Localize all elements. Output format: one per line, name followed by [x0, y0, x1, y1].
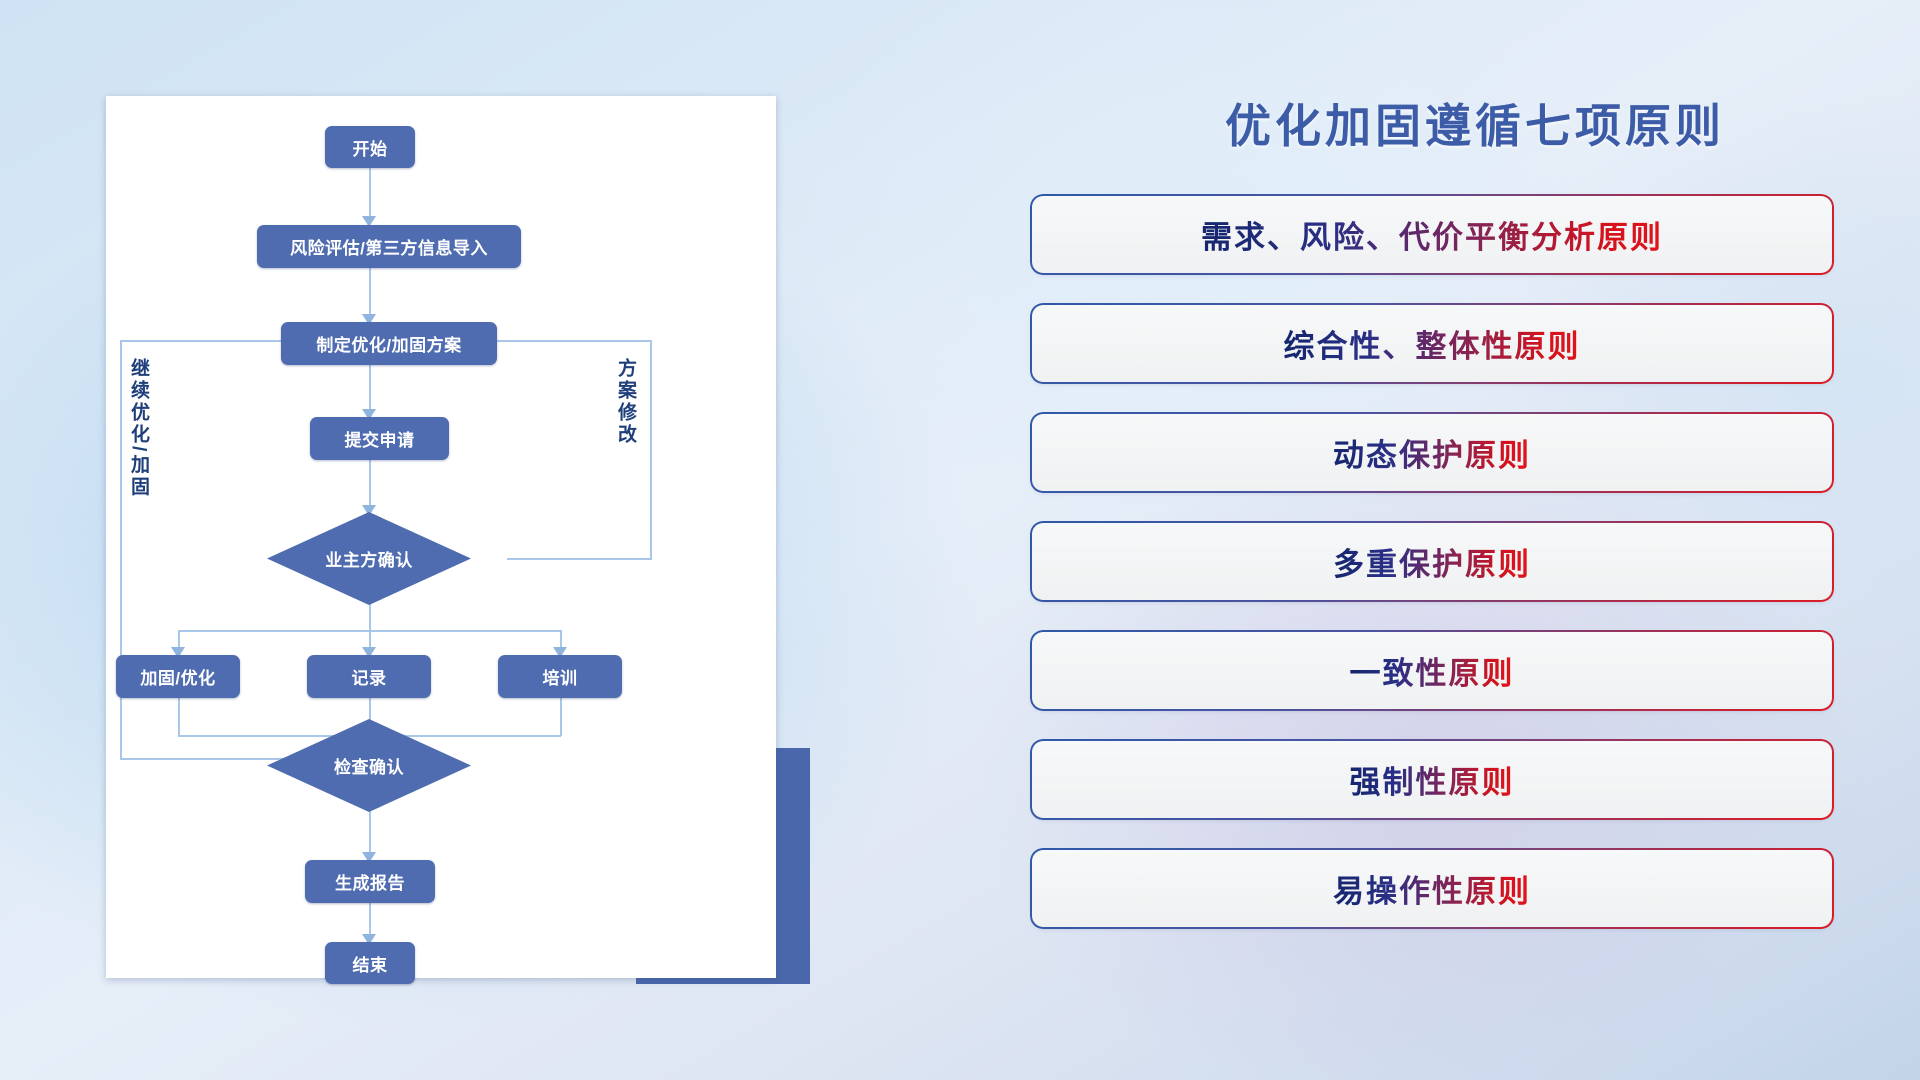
flow-node-plan[interactable]: 制定优化/加固方案: [281, 322, 497, 365]
diamond-shape-owner: [267, 512, 471, 605]
principles-panel: 优化加固遵循七项原则 需求、风险、代价平衡分析原则 综合性、整体性原则 动态保护…: [1020, 90, 1850, 959]
panel-title: 优化加固遵循七项原则: [1020, 90, 1850, 156]
principle-label: 易操作性原则: [1333, 866, 1531, 911]
principle-label: 综合性、整体性原则: [1284, 321, 1581, 366]
flow-node-training[interactable]: 培训: [498, 655, 622, 698]
flow-node-submit[interactable]: 提交申请: [310, 417, 449, 460]
principle-card[interactable]: 需求、风险、代价平衡分析原则: [1032, 196, 1832, 273]
edge-label-right-loop: 方案修改: [615, 358, 635, 446]
principle-card[interactable]: 易操作性原则: [1032, 850, 1832, 927]
flow-node-end[interactable]: 结束: [325, 942, 415, 984]
flow-node-risk-assessment[interactable]: 风险评估/第三方信息导入: [257, 225, 521, 268]
connector-owner-down: [369, 604, 371, 631]
principle-card[interactable]: 一致性原则: [1032, 632, 1832, 709]
principle-label: 需求、风险、代价平衡分析原则: [1201, 212, 1663, 257]
connector-owner-right: [507, 558, 652, 560]
connector-risk-to-plan: [369, 267, 371, 321]
principle-label: 强制性原则: [1350, 757, 1515, 802]
flow-node-owner-confirm[interactable]: 业主方确认: [267, 512, 471, 605]
principle-card[interactable]: 综合性、整体性原则: [1032, 305, 1832, 382]
flow-node-start[interactable]: 开始: [325, 126, 415, 168]
flow-node-check-confirm[interactable]: 检查确认: [267, 719, 471, 812]
edge-label-left-loop: 继续优化/加固: [128, 358, 148, 498]
flow-node-record[interactable]: 记录: [307, 655, 431, 698]
connector-start-to-risk: [369, 167, 371, 223]
principle-label: 动态保护原则: [1333, 430, 1531, 475]
flow-node-report[interactable]: 生成报告: [305, 860, 435, 903]
principle-card[interactable]: 多重保护原则: [1032, 523, 1832, 600]
principle-label: 多重保护原则: [1333, 539, 1531, 584]
principle-card[interactable]: 强制性原则: [1032, 741, 1832, 818]
principle-card[interactable]: 动态保护原则: [1032, 414, 1832, 491]
principle-label: 一致性原则: [1350, 648, 1515, 693]
connector-right-loop-vertical: [650, 340, 652, 560]
flowchart-card: 继续优化/加固 方案修改 开始 风险评估/第三方信息导入 制定优化/加固方案 提…: [106, 96, 776, 978]
flow-node-reinforce[interactable]: 加固/优化: [116, 655, 240, 698]
connector-training-down: [560, 697, 562, 736]
diamond-shape-check: [267, 719, 471, 812]
connector-reinforce-down: [178, 697, 180, 736]
